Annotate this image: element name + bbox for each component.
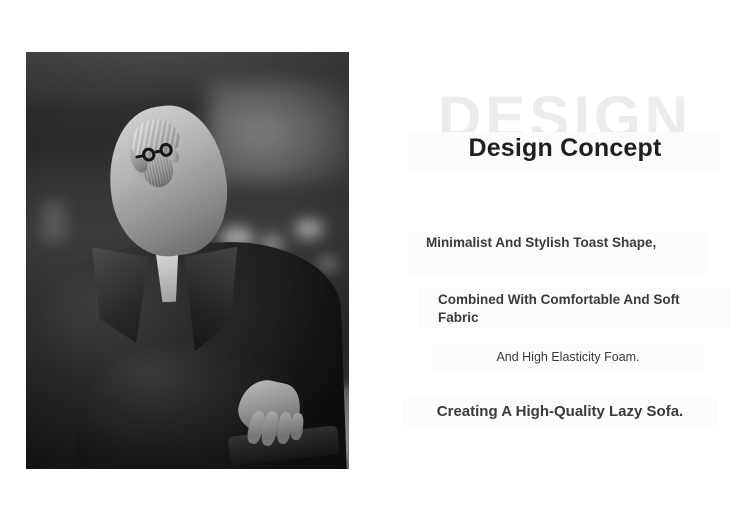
product-design-concept-page: DESIGN Design Concept Minimalist And Sty… — [0, 0, 750, 511]
design-concept-copy: DESIGN Design Concept Minimalist And Sty… — [380, 0, 750, 511]
page-title: Design Concept — [380, 134, 750, 163]
photo-figure — [26, 52, 349, 469]
copy-line-1: Minimalist And Stylish Toast Shape, — [426, 234, 676, 252]
photo-canvas — [26, 52, 349, 469]
copy-line-4: Creating A High-Quality Lazy Sofa. — [402, 402, 718, 422]
copy-line-3: And High Elasticity Foam. — [432, 349, 704, 365]
product-lifestyle-photo — [26, 52, 349, 469]
copy-line-2: Combined With Comfortable And Soft Fabri… — [438, 291, 710, 326]
photo-head — [100, 99, 236, 264]
